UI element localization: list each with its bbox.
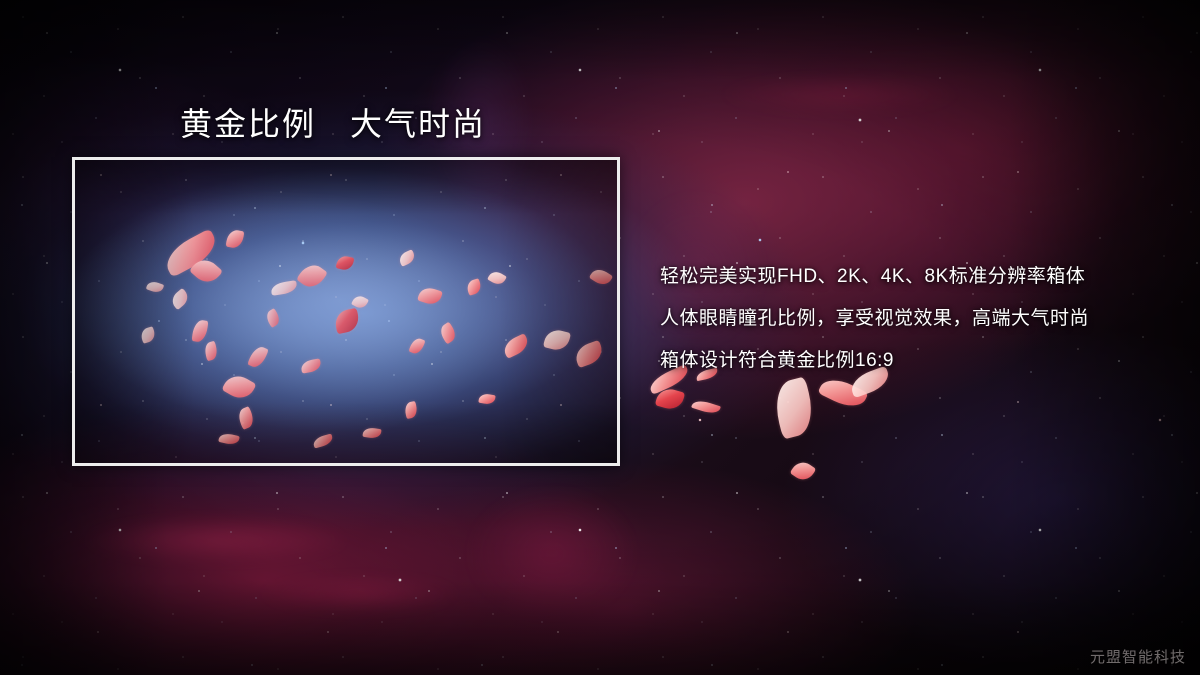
panel-shading-overlay bbox=[75, 160, 617, 463]
petal-decoration bbox=[691, 398, 721, 416]
petal-decoration bbox=[790, 458, 817, 484]
led-cabinet-preview-panel[interactable] bbox=[72, 157, 620, 466]
slide-canvas: 黄金比例 大气时尚 轻松完美实现FHD、2K、4K、8K标准分辨率箱体 人体眼睛… bbox=[0, 0, 1200, 675]
feature-line: 箱体设计符合黄金比例16:9 bbox=[660, 340, 1180, 382]
feature-line: 轻松完美实现FHD、2K、4K、8K标准分辨率箱体 bbox=[660, 256, 1180, 298]
brand-watermark: 元盟智能科技 bbox=[1090, 646, 1186, 667]
feature-description-block: 轻松完美实现FHD、2K、4K、8K标准分辨率箱体 人体眼睛瞳孔比例，享受视觉效… bbox=[660, 256, 1180, 382]
petal-decoration bbox=[770, 376, 818, 439]
page-title: 黄金比例 大气时尚 bbox=[180, 99, 486, 145]
feature-line: 人体眼睛瞳孔比例，享受视觉效果，高端大气时尚 bbox=[660, 298, 1180, 340]
panel-content bbox=[75, 160, 617, 463]
